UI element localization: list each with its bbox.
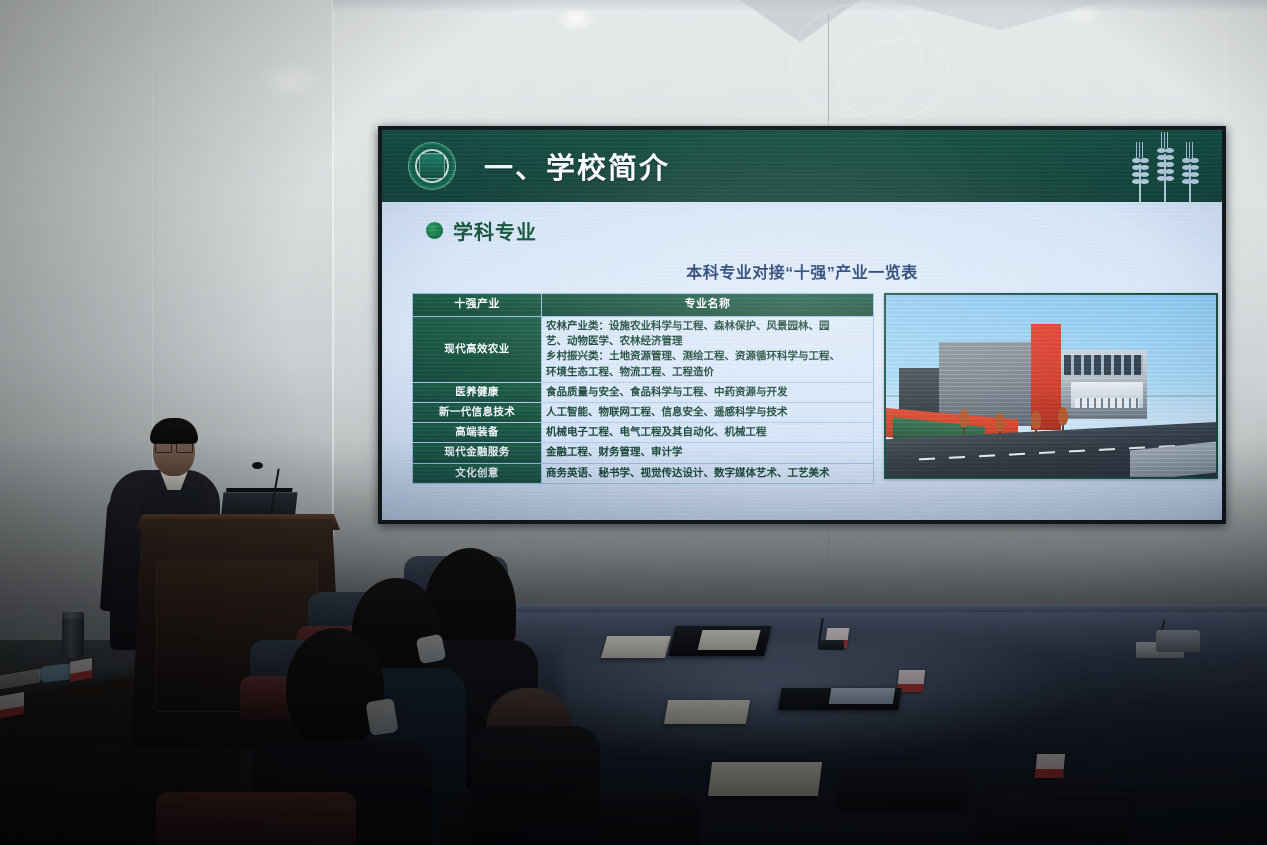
industry-cell: 现代高效农业: [413, 316, 542, 382]
led-display-screen: 一、学校简介: [378, 126, 1226, 524]
ceiling-facet: [890, 0, 1110, 30]
open-document: [698, 630, 761, 650]
table-row: 文化创意 商务英语、秘书学、视觉传达设计、数字媒体艺术、工艺美术: [413, 463, 874, 483]
slide-header: 一、学校简介: [382, 130, 1222, 202]
photo-tree: [959, 407, 969, 437]
table-row: 现代金融服务 金融工程、财务管理、审计学: [413, 443, 874, 463]
majors-cell: 人工智能、物联网工程、信息安全、遥感科学与技术: [542, 403, 874, 423]
majors-cell: 金融工程、财务管理、审计学: [542, 443, 874, 463]
face-mask: [366, 698, 399, 736]
photo-low-building: [1071, 382, 1144, 407]
majors-cell: 商务英语、秘书学、视觉传达设计、数字媒体艺术、工艺美术: [542, 463, 874, 483]
table-header-majors: 专业名称: [542, 294, 874, 317]
majors-table: 十强产业 专业名称 现代高效农业 农林产业类：设施农业科学与工程、森林保护、风景…: [412, 293, 874, 484]
table-row: 高端装备 机械电子工程、电气工程及其自动化、机械工程: [413, 423, 874, 443]
majors-line: 商务英语、秘书学、视觉传达设计、数字媒体艺术、工艺美术: [546, 466, 869, 481]
wheat-stalk-icon: [1155, 132, 1175, 204]
equipment-case: [1156, 630, 1200, 652]
audience-torso: [470, 726, 600, 845]
photo-tree: [1058, 405, 1068, 435]
document-folder: [836, 768, 971, 808]
table-row: 现代高效农业 农林产业类：设施农业科学与工程、森林保护、风景园林、园 艺、动物医…: [413, 316, 874, 382]
podium-microphone-head: [252, 462, 263, 469]
photo-window-band: [1064, 355, 1143, 375]
campus-building-photo: [884, 293, 1218, 479]
industry-cell: 医养健康: [413, 382, 542, 402]
table-row: 新一代信息技术 人工智能、物联网工程、信息安全、遥感科学与技术: [413, 403, 874, 423]
wheat-decoration-icon: [1130, 132, 1200, 204]
name-card: [0, 692, 24, 718]
bullet-dot-icon: [426, 222, 443, 239]
table-header-row: 十强产业 专业名称: [413, 294, 874, 317]
name-card: [70, 658, 92, 682]
wheat-stalk-icon: [1130, 142, 1150, 204]
table-caption: 本科专业对接“十强”产业一览表: [382, 259, 1222, 283]
section-label: 学科专业: [453, 216, 537, 245]
industry-cell: 文化创意: [413, 463, 542, 483]
presentation-slide: 一、学校简介: [382, 130, 1222, 520]
industry-cell: 现代金融服务: [413, 443, 542, 463]
notebook: [708, 762, 822, 796]
notebook: [664, 700, 750, 724]
industry-cell: 高端装备: [413, 423, 542, 443]
open-document: [829, 688, 896, 704]
table-row: 医养健康 食品质量与安全、食品科学与工程、中药资源与开发: [413, 382, 874, 402]
name-card-stripe: [1035, 769, 1064, 778]
majors-line: 金融工程、财务管理、审计学: [546, 445, 869, 460]
eyeglasses-icon: [155, 443, 193, 451]
majors-line: 环境生态工程、物流工程、工程造价: [546, 365, 869, 380]
photo-tree: [995, 411, 1005, 441]
majors-line: 艺、动物医学、农林经济管理: [546, 334, 869, 349]
name-card: [1035, 754, 1065, 778]
table-header-industry: 十强产业: [413, 294, 542, 317]
ceiling-light-strip: [380, 121, 1222, 125]
majors-line: 机械电子工程、电气工程及其自动化、机械工程: [546, 425, 869, 440]
university-emblem-icon: [408, 142, 456, 190]
majors-line: 农林产业类：设施农业科学与工程、森林保护、风景园林、园: [546, 319, 869, 334]
majors-line: 食品质量与安全、食品科学与工程、中药资源与开发: [546, 385, 869, 400]
majors-line: 人工智能、物联网工程、信息安全、遥感科学与技术: [546, 405, 869, 420]
thermos-flask: [62, 612, 84, 658]
notebook: [601, 636, 671, 658]
wheat-stalk-icon: [1180, 142, 1200, 204]
majors-cell: 食品质量与安全、食品科学与工程、中药资源与开发: [542, 382, 874, 402]
majors-line: 乡村振兴类：土地资源管理、测绘工程、资源循环科学与工程、: [546, 349, 869, 364]
slide-content-row: 十强产业 专业名称 现代高效农业 农林产业类：设施农业科学与工程、森林保护、风景…: [412, 293, 1222, 484]
photo-tree: [1031, 409, 1041, 439]
industry-cell: 新一代信息技术: [413, 403, 542, 423]
chair-frame: [156, 792, 356, 845]
document-folder: [978, 792, 1132, 838]
slide-section-heading: 学科专业: [426, 216, 1222, 245]
conference-room-photo: 一、学校简介: [0, 0, 1267, 845]
majors-cell: 农林产业类：设施农业科学与工程、森林保护、风景园林、园 艺、动物医学、农林经济管…: [542, 316, 874, 382]
face-mask: [416, 634, 447, 665]
desk-microphone: [818, 640, 844, 650]
slide-title: 一、学校简介: [484, 145, 670, 187]
majors-cell: 机械电子工程、电气工程及其自动化、机械工程: [542, 423, 874, 443]
